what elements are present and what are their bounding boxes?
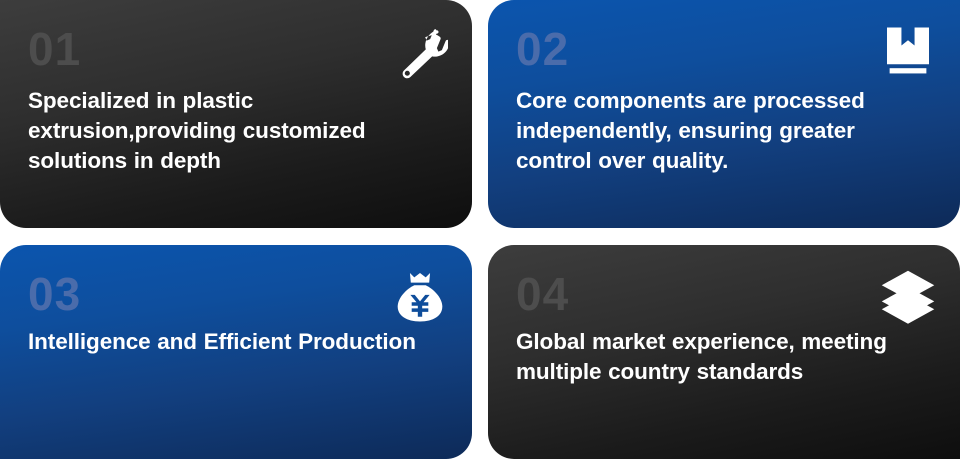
book-bookmark-icon (880, 24, 936, 80)
card-text: Core components are processed independen… (516, 86, 930, 176)
card-text: Specialized in plastic extrusion,providi… (28, 86, 442, 176)
card-number: 03 (28, 271, 442, 317)
wrench-icon (392, 24, 448, 80)
feature-card-03[interactable]: 03 Intelligence and Efficient Production (0, 245, 472, 459)
feature-card-grid: 01 Specialized in plastic extrusion,prov… (0, 0, 960, 459)
card-number: 01 (28, 26, 442, 72)
layers-stack-icon (880, 269, 936, 325)
card-number: 04 (516, 271, 930, 317)
card-text: Intelligence and Efficient Production (28, 327, 442, 357)
money-bag-yen-icon (392, 269, 448, 325)
card-text: Global market experience, meeting multip… (516, 327, 930, 387)
feature-card-01[interactable]: 01 Specialized in plastic extrusion,prov… (0, 0, 472, 228)
feature-card-02[interactable]: 02 Core components are processed indepen… (488, 0, 960, 228)
card-number: 02 (516, 26, 930, 72)
feature-card-04[interactable]: 04 Global market experience, meeting mul… (488, 245, 960, 459)
